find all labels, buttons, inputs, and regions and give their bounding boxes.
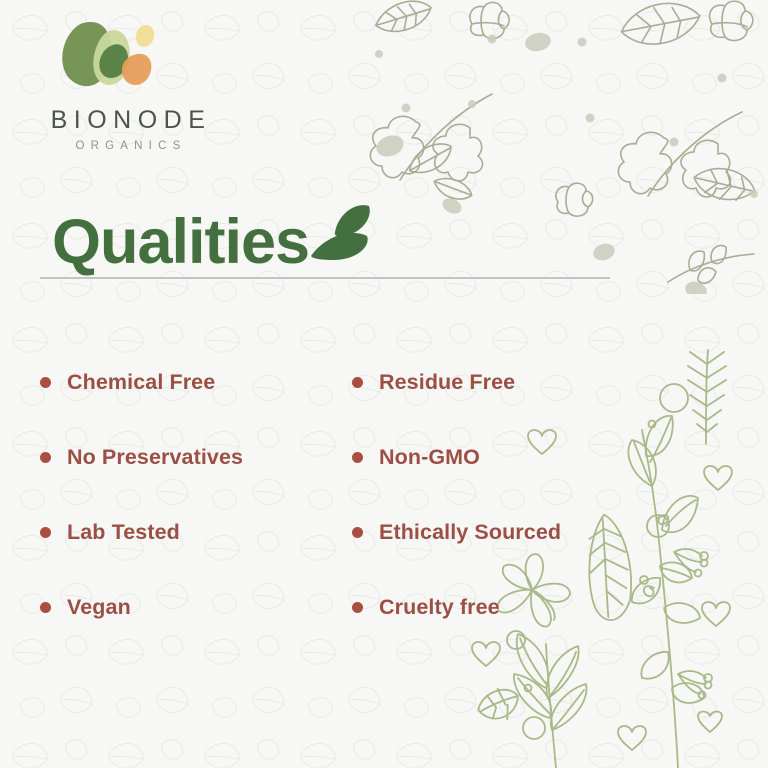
bullet-icon — [352, 527, 363, 538]
qualities-list: Chemical Free Residue Free No Preservati… — [40, 345, 680, 645]
page-title: Qualities — [52, 211, 309, 274]
brand-tagline: ORGANICS — [33, 140, 223, 152]
quality-item: Vegan — [40, 570, 352, 645]
bullet-icon — [40, 602, 51, 613]
quality-label: No Preservatives — [67, 445, 243, 470]
brand-logo[interactable]: BIONODE ORGANICS — [33, 18, 223, 152]
bullet-icon — [352, 452, 363, 463]
quality-item: No Preservatives — [40, 420, 352, 495]
quality-label: Cruelty free — [379, 595, 500, 620]
quality-label: Vegan — [67, 595, 131, 620]
bullet-icon — [40, 377, 51, 388]
page-heading: Qualities — [52, 196, 375, 274]
quality-label: Chemical Free — [67, 370, 215, 395]
bullet-icon — [352, 602, 363, 613]
quality-item: Cruelty free — [352, 570, 680, 645]
top-right-botanical-decoration — [352, 0, 768, 294]
quality-label: Residue Free — [379, 370, 515, 395]
qualities-poster: BIONODE ORGANICS Qualities Chemical Free… — [0, 0, 768, 768]
brand-name: BIONODE — [33, 106, 223, 135]
quality-label: Ethically Sourced — [379, 520, 561, 545]
quality-item: Ethically Sourced — [352, 495, 680, 570]
quality-label: Non-GMO — [379, 445, 480, 470]
heading-divider — [40, 277, 610, 279]
bullet-icon — [40, 527, 51, 538]
bullet-icon — [352, 377, 363, 388]
quality-label: Lab Tested — [67, 520, 180, 545]
bullet-icon — [40, 452, 51, 463]
quality-item: Lab Tested — [40, 495, 352, 570]
quality-item: Non-GMO — [352, 420, 680, 495]
quality-item: Residue Free — [352, 345, 680, 420]
sprout-leaves-icon — [305, 202, 375, 264]
organic-leaves-logo-mark-icon — [57, 18, 162, 98]
quality-item: Chemical Free — [40, 345, 352, 420]
